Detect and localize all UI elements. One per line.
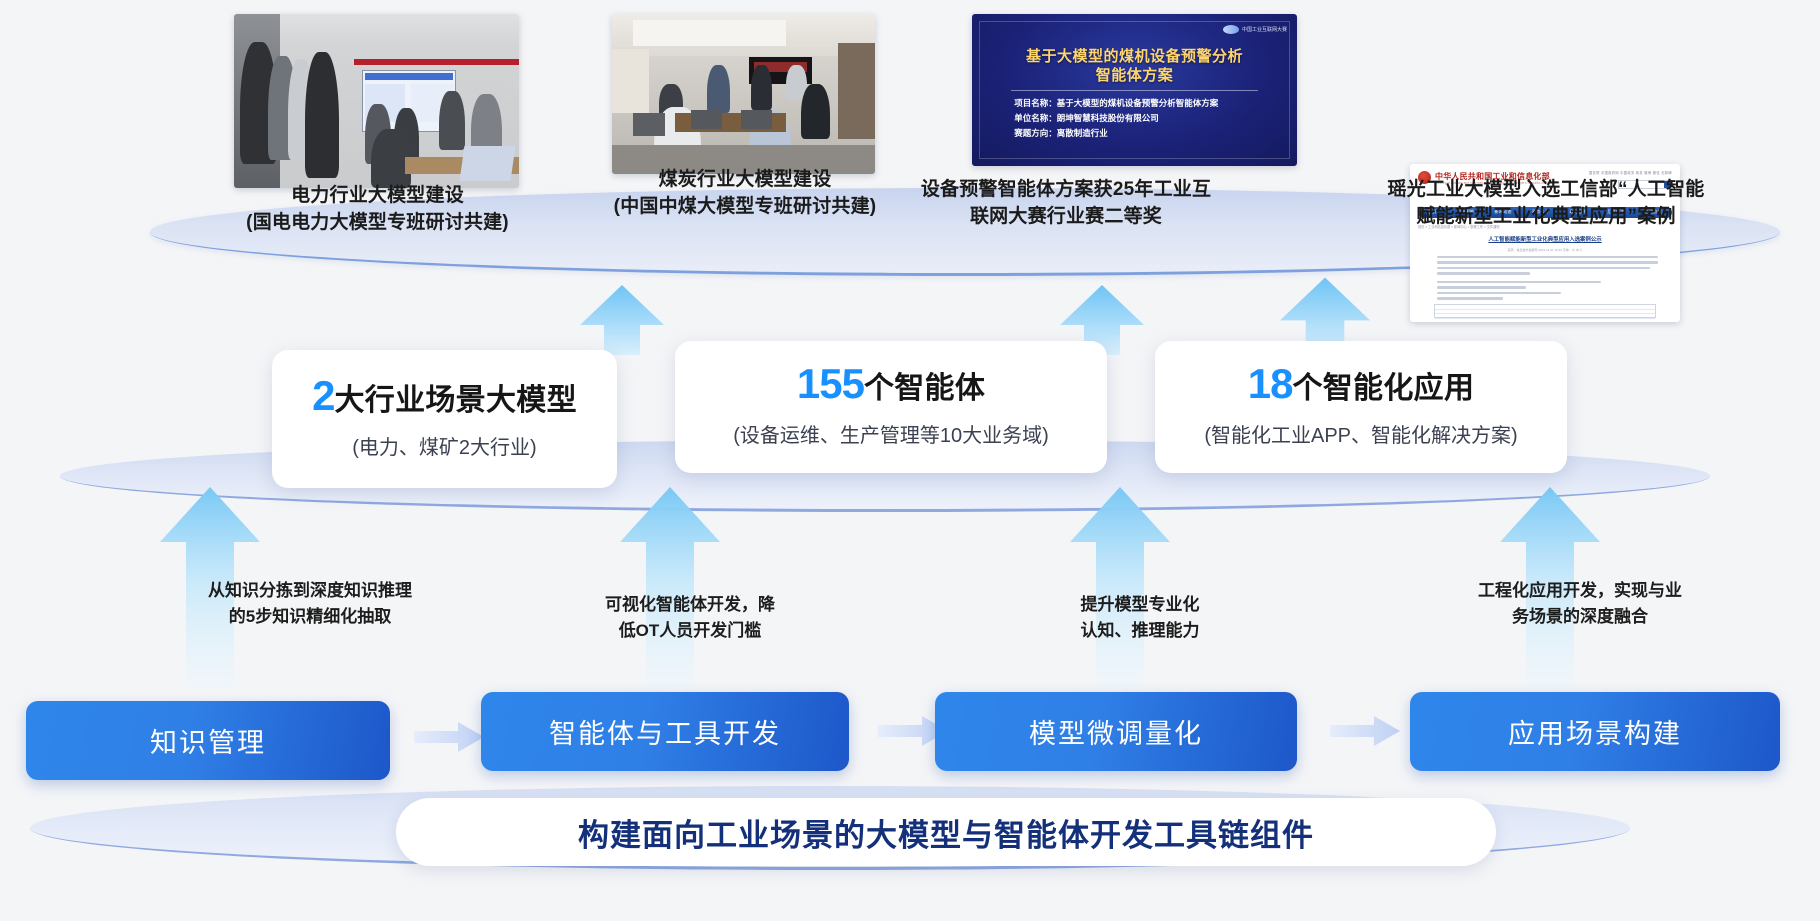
stat-label: 个智能体 (864, 372, 985, 405)
annotation-app-scene: 工程化应用开发，实现与业 务场景的深度融合 (1380, 578, 1780, 630)
pipeline-step-label: 知识管理 (150, 721, 266, 760)
arrow-up-stage-2 (620, 487, 720, 687)
competition-logo: 中国工业互联网大赛 (1223, 25, 1287, 34)
slide-divider (1011, 90, 1258, 91)
slide-canvas: 电力行业大模型建设 (国电电力大模型专班研讨共建) 煤炭行业大模型建设 (中国中… (0, 0, 1820, 921)
stat-card-models[interactable]: 2大行业场景大模型 (电力、煤矿2大行业) (272, 350, 617, 488)
thumbnail-coal-industry[interactable] (612, 14, 875, 174)
caption-miit-case: 瑶光工业大模型入选工信部“人工智能 赋能新型工业化典型应用”案例 (1296, 176, 1796, 230)
competition-logo-text: 中国工业互联网大赛 (1242, 27, 1287, 33)
pipeline-step-agent-tool-development[interactable]: 智能体与工具开发 (481, 692, 849, 771)
pipeline-step-knowledge-management[interactable]: 知识管理 (26, 701, 390, 780)
annotation-line2: 的5步知识精细化抽取 (95, 604, 525, 630)
annotation-line2: 认知、推理能力 (995, 618, 1285, 644)
attachment-table (1434, 304, 1655, 318)
article-body (1437, 256, 1658, 303)
thumbnail-award-slide[interactable]: 中国工业互联网大赛 基于大模型的煤机设备预警分析 智能体方案 项目名称：基于大模… (972, 14, 1297, 166)
pipeline-step-application-scenario[interactable]: 应用场景构建 (1410, 692, 1780, 771)
bottom-banner-text: 构建面向工业场景的大模型与智能体开发工具链组件 (578, 810, 1314, 855)
article-meta: 来源：信息技术发展司 2024-12-31 16:23 字体：大 中 小 (1410, 248, 1680, 252)
annotation-line1: 可视化智能体开发，降 (545, 592, 835, 618)
stat-card-headline: 18个智能化应用 (1248, 366, 1475, 407)
annotation-model-tuning: 提升模型专业化 认知、推理能力 (995, 592, 1285, 644)
bottom-banner: 构建面向工业场景的大模型与智能体开发工具链组件 (396, 798, 1496, 866)
stat-label: 个智能化应用 (1292, 372, 1474, 405)
caption-line2: 联网大赛行业赛二等奖 (826, 203, 1306, 230)
caption-award: 设备预警智能体方案获25年工业互 联网大赛行业赛二等奖 (826, 176, 1306, 230)
pipeline-arrow-1 (414, 722, 484, 757)
annotation-line2: 务场景的深度融合 (1380, 604, 1780, 630)
annotation-line1: 从知识分拣到深度知识推理 (95, 578, 525, 604)
caption-line1: 瑶光工业大模型入选工信部“人工智能 (1296, 176, 1796, 203)
caption-line2: 赋能新型工业化典型应用”案例 (1296, 203, 1796, 230)
stat-card-applications[interactable]: 18个智能化应用 (智能化工业APP、智能化解决方案) (1155, 341, 1567, 473)
stat-card-headline: 155个智能体 (797, 366, 985, 407)
stat-number: 18 (1248, 360, 1293, 407)
slide-field-company: 单位名称：朗坤智慧科技股份有限公司 (1014, 111, 1271, 126)
pipeline-arrow-3 (1330, 716, 1400, 751)
pipeline-step-label: 智能体与工具开发 (549, 712, 781, 751)
annotation-knowledge: 从知识分拣到深度知识推理 的5步知识精细化抽取 (95, 578, 525, 630)
pipeline-step-label: 模型微调量化 (1029, 712, 1203, 751)
competition-logo-mark (1223, 25, 1239, 34)
stat-number: 2 (312, 372, 334, 419)
annotation-line2: 低OT人员开发门槛 (545, 618, 835, 644)
stat-card-subtext: (设备运维、生产管理等10大业务域) (733, 423, 1049, 449)
arrow-up-to-result-1 (580, 285, 664, 355)
slide-title-line2: 智能体方案 (972, 66, 1297, 85)
slide-title-line1: 基于大模型的煤机设备预警分析 (972, 47, 1297, 66)
slide-field-track: 赛题方向：离散制造行业 (1014, 126, 1271, 141)
slide-title: 基于大模型的煤机设备预警分析 智能体方案 (972, 47, 1297, 85)
site-top-links[interactable]: 国务院 中国政府网 中国政务 政务 微博 微信 无障碍 (1589, 170, 1672, 175)
stat-card-agents[interactable]: 155个智能体 (设备运维、生产管理等10大业务域) (675, 341, 1107, 473)
stat-card-headline: 2大行业场景大模型 (312, 378, 577, 419)
thumbnail-power-industry[interactable] (234, 14, 519, 188)
stat-label: 大行业场景大模型 (334, 384, 576, 417)
stat-card-subtext: (电力、煤矿2大行业) (352, 435, 536, 461)
annotation-line1: 工程化应用开发，实现与业 (1380, 578, 1780, 604)
slide-field-project: 项目名称：基于大模型的煤机设备预警分析智能体方案 (1014, 96, 1271, 111)
pipeline-step-model-fine-tuning[interactable]: 模型微调量化 (935, 692, 1297, 771)
slide-fields: 项目名称：基于大模型的煤机设备预警分析智能体方案 单位名称：朗坤智慧科技股份有限… (1014, 96, 1271, 141)
stat-number: 155 (797, 360, 864, 407)
arrow-up-stage-3 (1070, 487, 1170, 687)
stat-card-subtext: (智能化工业APP、智能化解决方案) (1204, 423, 1517, 449)
annotation-agent-dev: 可视化智能体开发，降 低OT人员开发门槛 (545, 592, 835, 644)
article-title: 人工智能赋能新型工业化典型应用入选案例公示 (1410, 235, 1680, 243)
caption-line1: 设备预警智能体方案获25年工业互 (826, 176, 1306, 203)
pipeline-step-label: 应用场景构建 (1508, 712, 1682, 751)
annotation-line1: 提升模型专业化 (995, 592, 1285, 618)
